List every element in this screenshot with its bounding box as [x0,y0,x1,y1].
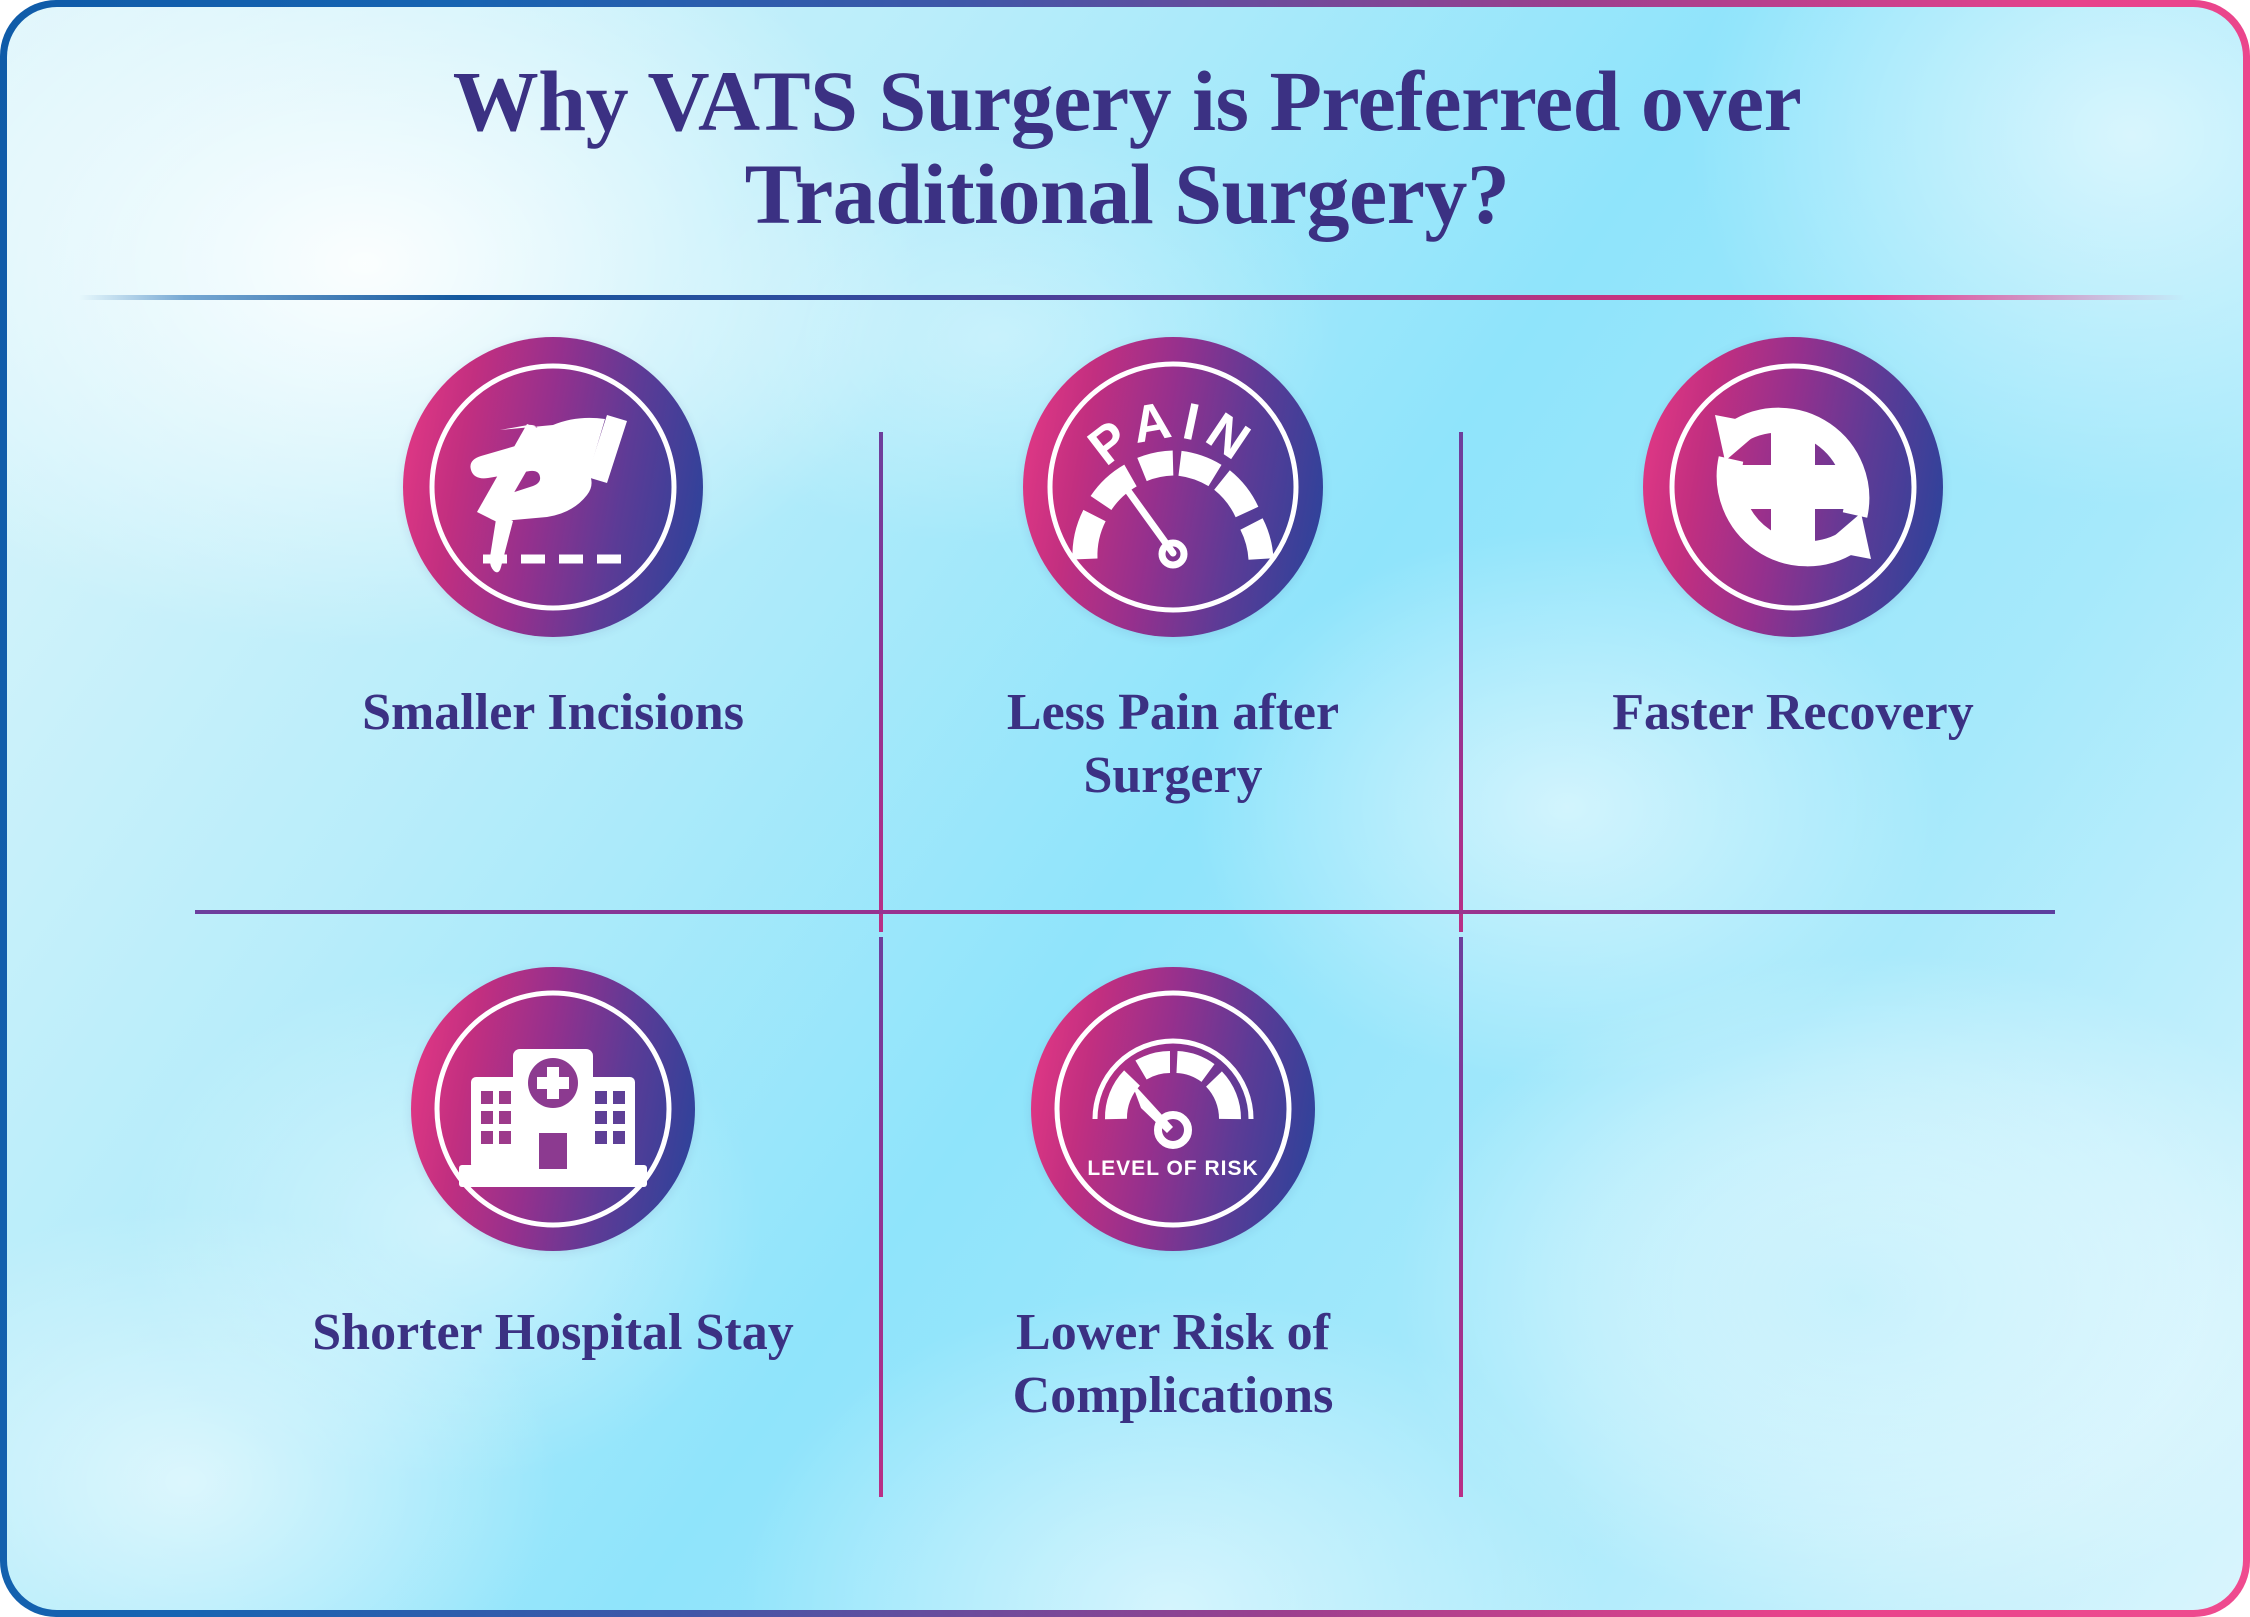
benefit-item-less-pain: PAIN [876,337,1470,808]
benefit-item-smaller-incisions: Smaller Incisions [256,337,850,744]
hospital-building-icon [411,967,695,1251]
benefit-item-faster-recovery: Faster Recovery [1496,337,2090,744]
benefits-grid: Smaller Incisions PAIN [7,7,2243,1610]
scalpel-incision-icon [403,337,703,637]
benefit-label: Smaller Incisions [362,681,744,744]
benefit-label: Shorter Hospital Stay [312,1301,794,1364]
risk-level-gauge-icon: LEVEL OF RISK [1031,967,1315,1251]
medical-cross-refresh-icon [1643,337,1943,637]
infographic-canvas: Why VATS Surgery is Preferred over Tradi… [7,7,2243,1610]
benefit-label: Faster Recovery [1612,681,1973,744]
benefit-label: Lower Risk of Complications [913,1301,1433,1428]
risk-gauge-label: LEVEL OF RISK [1087,1157,1258,1180]
pain-gauge-icon: PAIN [1023,337,1323,637]
benefit-label: Less Pain after Surgery [913,681,1433,808]
benefit-item-lower-risk: LEVEL OF RISK Lower Risk of Complication… [876,967,1470,1428]
infographic-card: Why VATS Surgery is Preferred over Tradi… [0,0,2250,1617]
benefit-item-shorter-hospital-stay: Shorter Hospital Stay [256,967,850,1364]
